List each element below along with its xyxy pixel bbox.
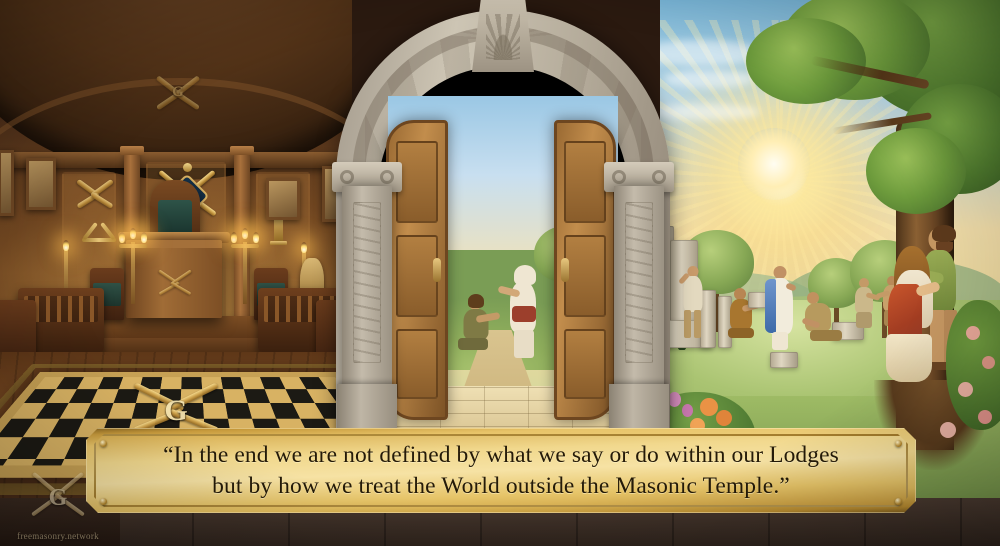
- ashlar-block-foreground: [770, 352, 798, 368]
- plaque-rivet-top-left: [100, 440, 107, 447]
- framed-portrait-far-left: [0, 150, 14, 216]
- pilaster-capital-right: [230, 146, 254, 155]
- right-door-handle[interactable]: [561, 258, 569, 282]
- framed-portrait-left: [26, 158, 56, 210]
- figure-couple-woman: [886, 250, 940, 384]
- oak-canopy-5: [866, 128, 966, 214]
- figure-lifter-left: [852, 278, 876, 330]
- receiver-hair: [468, 294, 484, 308]
- figure-teacher-blue: [764, 266, 796, 352]
- man-hair: [932, 225, 956, 242]
- ceiling-g-letter: G: [152, 84, 204, 101]
- ceiling-square-compasses-emblem: G: [152, 72, 204, 114]
- right-door-panel-top: [564, 141, 607, 223]
- woman-skirt: [886, 334, 932, 382]
- watermark-g-letter: G: [27, 485, 89, 512]
- rising-sun: [738, 128, 810, 200]
- left-door-handle[interactable]: [433, 258, 441, 282]
- figure-mason-wall: [680, 266, 706, 340]
- framed-diagram-right: [266, 178, 300, 220]
- figure-kneeling-receiver: [458, 296, 500, 358]
- left-door-panel-bottom: [396, 329, 439, 400]
- quote-plaque-inner-bevel: [94, 434, 908, 507]
- right-door-panel-mid: [564, 235, 607, 317]
- pavement-g-letter: G: [128, 394, 224, 428]
- flower-orange-2: [716, 410, 732, 426]
- right-door-panel-bottom: [564, 329, 607, 400]
- rose-1: [966, 326, 980, 340]
- figure-stonecutter: [800, 292, 844, 354]
- plaque-rivet-top-right: [895, 440, 902, 447]
- rose-2: [982, 356, 995, 369]
- watermark-site-label: freemasonry.network: [17, 531, 99, 541]
- left-door-panel-top: [396, 141, 439, 223]
- rose-3: [958, 382, 973, 397]
- side-wall-square-compasses: [74, 178, 116, 212]
- keystone-fan-carving: [486, 14, 520, 60]
- rose-4: [978, 410, 992, 424]
- figure-standing-helper: [506, 268, 544, 360]
- oak-canopy-3: [746, 18, 866, 104]
- flower-pink-2: [682, 404, 693, 417]
- artwork-canvas: G G: [0, 0, 1000, 546]
- flower-orange-1: [700, 398, 718, 416]
- left-pilaster: [342, 186, 392, 446]
- pilaster-capital-left: [120, 146, 144, 155]
- blue-sash: [765, 279, 776, 333]
- level-triangle-emblem: [82, 222, 116, 242]
- watermark-square-compasses-icon: G: [27, 473, 89, 529]
- right-pilaster: [614, 186, 664, 446]
- left-door-panel-mid: [396, 235, 439, 317]
- rose-5: [940, 422, 956, 438]
- altar-square-compasses: [156, 270, 194, 300]
- watermark: G freemasonry.network: [6, 455, 110, 541]
- helper-red-sash: [512, 306, 536, 322]
- plaque-rivet-bottom-right: [895, 498, 902, 505]
